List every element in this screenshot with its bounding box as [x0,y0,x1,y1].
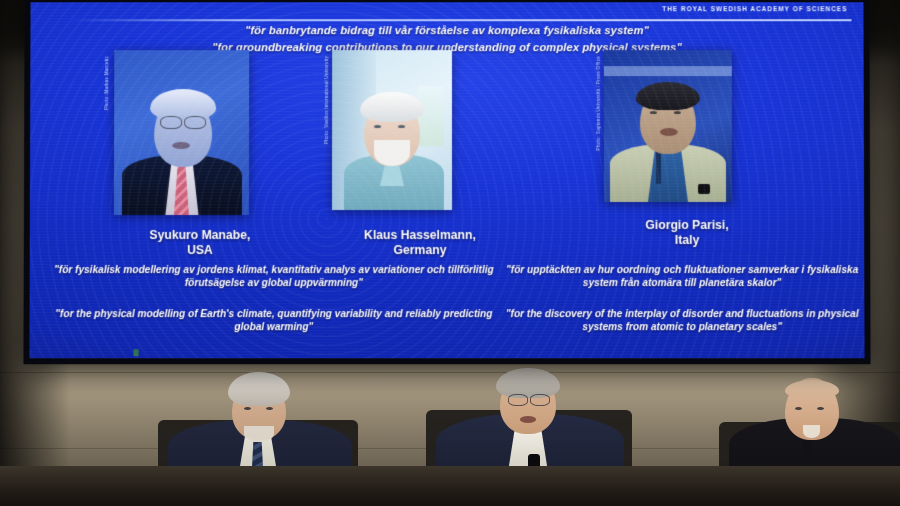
portrait-wrap-parisi: Photo: Sapienza Università / Press Offic… [582,50,792,202]
panelist-left-eye-right [266,407,273,410]
laureate-country-parisi: Italy [582,233,792,248]
panelist-right-eye-left [795,407,802,410]
screen-indicator-dot [134,349,139,356]
panelist-left-beard [244,426,274,442]
hasselmann-eye-right [398,125,405,128]
laureate-name-text-manabe: Syukuro Manabe, [149,228,250,242]
panelist-right-eye-right [817,407,824,410]
portrait-wrap-manabe: Photo: Markus Marcetic [76,50,324,215]
parisi-eye-right [674,111,681,114]
hasselmann-beard [374,140,410,166]
panelist-center-mouth [520,416,536,423]
citation-right-swedish: "för upptäckten av hur oordning och fluk… [494,264,865,291]
hasselmann-background-poster [418,86,444,146]
photo-credit-hasselmann: Photo: Vasilios International University [324,56,329,144]
projection-screen: THE ROYAL SWEDISH ACADEMY OF SCIENCES "f… [29,2,864,358]
parisi-mouth [660,128,678,136]
parisi-hair [636,82,700,110]
parisi-microphone [698,184,710,194]
portrait-klaus-hasselmann [332,50,452,210]
laureate-name-text-parisi: Giorgio Parisi, [645,218,728,232]
academy-header: THE ROYAL SWEDISH ACADEMY OF SCIENCES [662,6,847,13]
laureate-card-manabe: Photo: Markus Marcetic [76,50,324,215]
manabe-glasses-left [160,116,182,129]
panelist-right-goatee [803,425,820,438]
laureate-name-parisi: Giorgio Parisi, Italy [582,218,792,247]
portrait-syukuro-manabe [114,50,249,215]
panelist-center-glasses-left [508,394,528,406]
manabe-hair [150,89,216,121]
laureate-country-hasselmann: Germany [320,243,520,258]
laureate-card-hasselmann: Photo: Vasilios International University [320,50,520,210]
panelist-center-hair [496,368,560,398]
laureate-name-hasselmann: Klaus Hasselmann, Germany [320,228,520,257]
parisi-eye-left [650,111,657,114]
panelist-center-glasses-right [530,394,550,406]
laureate-country-manabe: USA [76,243,324,258]
portrait-wrap-hasselmann: Photo: Vasilios International University [320,50,520,210]
projection-screen-frame: THE ROYAL SWEDISH ACADEMY OF SCIENCES "f… [23,0,870,364]
top-citation-swedish: "för banbrytande bidrag till vår förståe… [30,24,863,39]
laureate-card-parisi: Photo: Sapienza Università / Press Offic… [582,50,792,202]
panel-desk-front [0,466,900,506]
portrait-giorgio-parisi [604,50,732,202]
press-conference-scene: GÖRAN K. HANSSON THE ROYAL SWEDISH ACADE… [0,0,900,506]
citation-left-english: "for the physical modelling of Earth's c… [48,308,501,335]
laureate-name-text-hasselmann: Klaus Hasselmann, [364,228,476,242]
hasselmann-hair [360,92,424,122]
photo-credit-parisi: Photo: Sapienza Università / Press Offic… [596,56,601,150]
manabe-mouth [172,142,190,149]
panelist-left-hair [228,372,290,406]
panelist-right-bald-crown [785,380,839,398]
citation-left-swedish: "för fysikalisk modellering av jordens k… [48,264,500,291]
manabe-glasses-right [184,116,206,129]
header-divider [70,19,851,21]
laureate-name-manabe: Syukuro Manabe, USA [76,228,324,257]
citation-right-english: "for the discovery of the interplay of d… [494,308,865,335]
hasselmann-eye-left [374,125,381,128]
photo-credit-manabe: Photo: Markus Marcetic [104,56,109,110]
panelist-left-eye-left [244,407,251,410]
laureates-row: Photo: Markus Marcetic [30,50,864,250]
parisi-background-rail [604,66,732,76]
